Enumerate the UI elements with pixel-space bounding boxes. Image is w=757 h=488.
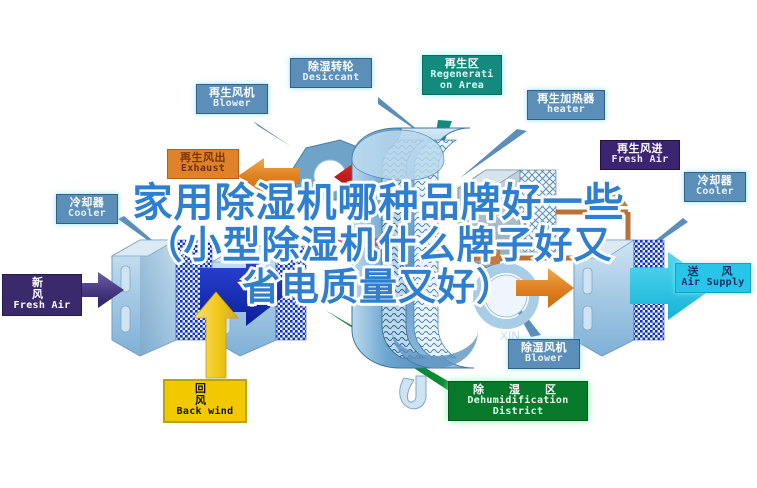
dehumidifier-diagram: XIN [0, 0, 757, 488]
label-air-supply[interactable]: 送 风 Air Supply [675, 263, 751, 293]
label-regeneration-blower[interactable]: 再生风机 Blower [196, 84, 268, 114]
dehumidification-blower [478, 268, 574, 324]
label-air-supply-en: Air Supply [680, 278, 746, 289]
label-dehumidification-blower[interactable]: 除湿风机 Blower [508, 339, 580, 369]
label-cooler-left-en: Cooler [61, 209, 113, 220]
label-back-wind[interactable]: 回 风 Back wind [163, 379, 247, 423]
label-back-wind-cn: 回 风 [169, 383, 241, 407]
label-regeneration-blower-en: Blower [201, 99, 263, 110]
diagram-artwork: XIN [0, 0, 757, 488]
condensate-drop-icon [400, 376, 426, 409]
regeneration-heater [458, 170, 556, 268]
label-regeneration-area[interactable]: 再生区 Regenerati on Area [422, 55, 502, 95]
label-regeneration-exhaust[interactable]: 再生风出 Exhaust [167, 149, 239, 179]
label-regeneration-heater[interactable]: 再生加热器 heater [527, 90, 605, 120]
label-cooler-right-en: Cooler [689, 187, 741, 198]
label-desiccant-wheel[interactable]: 除湿转轮 Desiccant [290, 58, 372, 88]
label-dehumidification-district-en2: District [453, 407, 583, 418]
label-fresh-air-cn: 新 风 [7, 277, 77, 301]
label-fresh-air[interactable]: 新 风 Fresh Air [2, 274, 82, 316]
label-regeneration-area-en2: on Area [427, 81, 497, 92]
label-dehumidification-blower-en: Blower [513, 354, 575, 365]
label-regeneration-fresh-air[interactable]: 再生风进 Fresh Air [600, 140, 680, 170]
label-regeneration-exhaust-en: Exhaust [172, 164, 234, 175]
label-regeneration-heater-en: heater [532, 105, 600, 116]
left-cooler-unit [112, 240, 212, 356]
label-regeneration-fresh-air-en: Fresh Air [605, 155, 675, 166]
label-desiccant-wheel-en: Desiccant [295, 73, 367, 84]
label-cooler-right[interactable]: 冷却器 Cooler [684, 172, 746, 202]
label-back-wind-en: Back wind [169, 407, 241, 418]
label-cooler-left[interactable]: 冷却器 Cooler [56, 194, 118, 224]
label-dehumidification-district[interactable]: 除 湿 区 Dehumidification District [448, 381, 588, 421]
label-fresh-air-en: Fresh Air [7, 301, 77, 312]
